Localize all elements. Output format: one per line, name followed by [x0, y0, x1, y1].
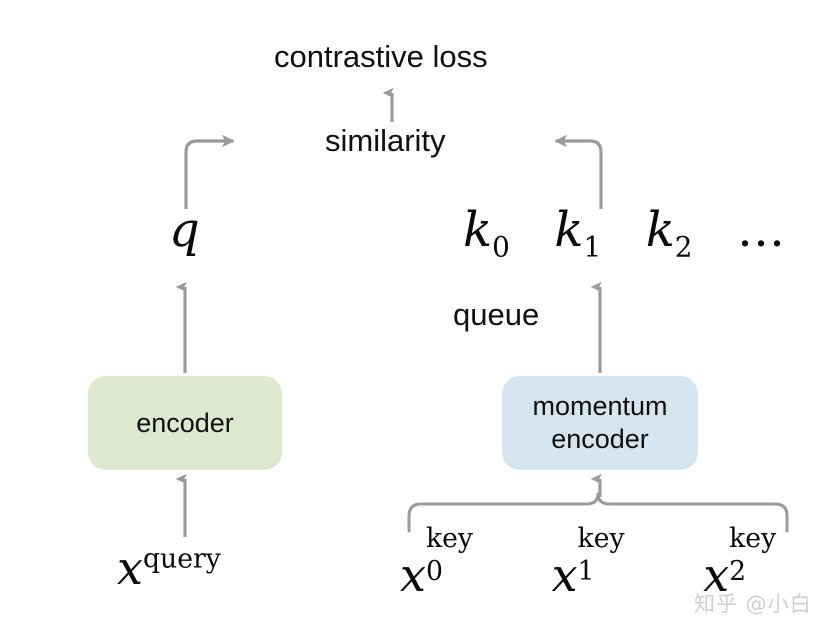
- queue-label: queue: [453, 299, 539, 330]
- contrastive-loss-label: contrastive loss: [274, 41, 488, 72]
- key-input-0: xkey0: [400, 548, 513, 602]
- key-symbol-2: k2: [646, 202, 693, 258]
- momentum-encoder-line-1: momentum: [532, 391, 667, 421]
- key-input-subscript-1: 1: [578, 559, 595, 586]
- diagram-canvas: contrastive loss similarity q k0 k1 k2 ……: [0, 0, 826, 634]
- arrow-q-to-similarity: [186, 141, 233, 209]
- momentum-encoder-box-label: momentum encoder: [532, 390, 667, 456]
- key-representations-group: k0 k1 k2 …: [463, 206, 785, 261]
- encoder-box[interactable]: encoder: [88, 376, 282, 470]
- key-input-superscript-0: key: [426, 526, 473, 553]
- query-representation-glyph: q: [169, 202, 200, 258]
- watermark: 知乎 @小白: [694, 588, 812, 618]
- key-input-subscript-0: 0: [426, 559, 443, 586]
- key-input-1: xkey1: [552, 548, 665, 602]
- query-input-superscript: query: [143, 544, 221, 575]
- connectors-layer: [0, 0, 826, 634]
- key-subscript-2: 2: [675, 231, 693, 264]
- momentum-encoder-box[interactable]: momentum encoder: [502, 376, 698, 470]
- encoder-box-label: encoder: [136, 407, 234, 440]
- query-representation-symbol: q: [169, 206, 200, 254]
- key-input-superscript-2: key: [729, 526, 776, 553]
- key-symbol-1: k1: [554, 202, 601, 258]
- keys-ellipsis: …: [737, 202, 785, 258]
- arrow-keys-to-similarity: [556, 141, 601, 209]
- similarity-label: similarity: [325, 125, 446, 156]
- key-symbol-0: k0: [463, 202, 510, 258]
- query-input-symbol: xquery: [117, 545, 221, 591]
- key-subscript-0: 0: [492, 231, 510, 264]
- momentum-encoder-line-2: encoder: [551, 424, 649, 454]
- key-input-subscript-2: 2: [729, 559, 746, 586]
- key-input-superscript-1: key: [578, 526, 625, 553]
- key-subscript-1: 1: [583, 231, 601, 264]
- query-input-base: x: [117, 541, 143, 595]
